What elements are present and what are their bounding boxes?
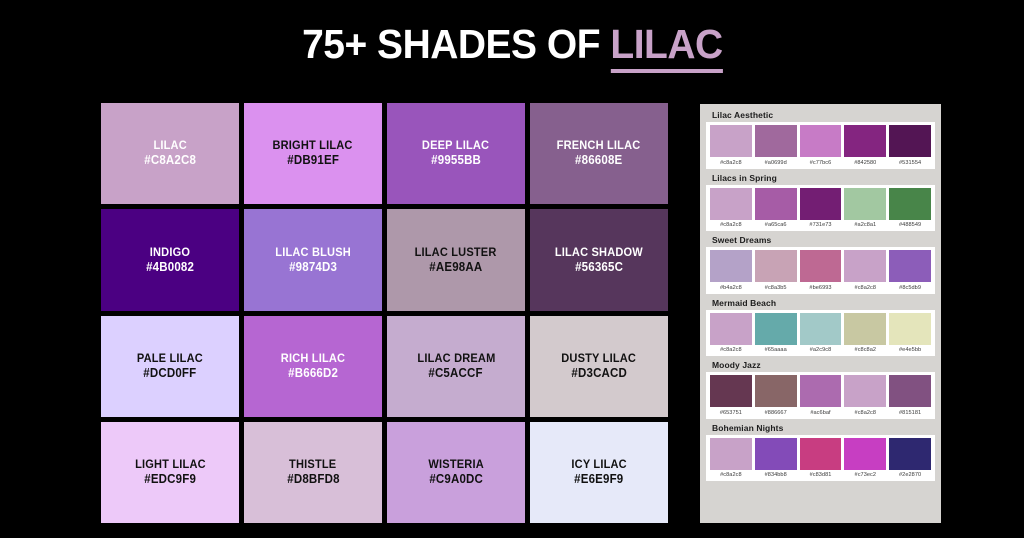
palette-color-chip[interactable] (889, 125, 931, 157)
palette-hex-code: #a0699d (765, 160, 787, 166)
palette-color-chip[interactable] (889, 313, 931, 345)
palette-swatch[interactable]: #be6993 (800, 250, 842, 292)
color-swatch-tile[interactable]: BRIGHT LILAC#DB91EF (244, 103, 382, 204)
swatch-hex-code: #DB91EF (287, 153, 339, 169)
palette-swatch[interactable]: #488549 (889, 188, 931, 230)
palette-color-chip[interactable] (844, 438, 886, 470)
palette-hex-code: #834bb8 (765, 472, 787, 478)
color-swatch-tile[interactable]: LILAC#C8A2C8 (101, 103, 239, 204)
palette-hex-code: #c8a2c8 (855, 410, 877, 416)
palette-card: #653751#886667#ac6baf#c8a2c8#815181 (706, 372, 935, 419)
palette-color-chip[interactable] (710, 250, 752, 282)
palette-hex-code: #65aaaa (765, 347, 787, 353)
palette-hex-code: #e4e5bb (899, 347, 921, 353)
palette-hex-code: #842580 (854, 160, 876, 166)
palette-swatch[interactable]: #815181 (889, 375, 931, 417)
palette-group-title: Lilac Aesthetic (706, 109, 935, 122)
palette-swatch[interactable]: #842580 (844, 125, 886, 167)
palette-swatch[interactable]: #a65ca6 (755, 188, 797, 230)
swatch-name: THISTLE (289, 457, 336, 472)
palette-hex-code: #815181 (899, 410, 921, 416)
swatch-hex-code: #56365C (575, 260, 623, 276)
swatch-hex-code: #9955BB (431, 153, 481, 169)
palette-hex-code: #a2c8a1 (854, 222, 876, 228)
palette-color-chip[interactable] (889, 250, 931, 282)
palette-color-chip[interactable] (710, 313, 752, 345)
palette-hex-code: #c77bc6 (810, 160, 832, 166)
palette-hex-code: #488549 (899, 222, 921, 228)
palette-swatch[interactable]: #c8a2c8 (710, 438, 752, 480)
palette-group: Lilacs in Spring#c8a2c8#a65ca6#731e73#a2… (706, 172, 935, 232)
palette-color-chip[interactable] (755, 438, 797, 470)
palette-swatch[interactable]: #8c5db9 (889, 250, 931, 292)
palette-color-chip[interactable] (710, 375, 752, 407)
swatch-hex-code: #C8A2C8 (144, 153, 196, 169)
palette-color-chip[interactable] (800, 313, 842, 345)
palette-hex-code: #8c5db9 (899, 285, 921, 291)
swatch-name: DUSTY LILAC (562, 351, 637, 366)
palette-swatch[interactable]: #c8a3b5 (755, 250, 797, 292)
color-swatch-tile[interactable]: DEEP LILAC#9955BB (387, 103, 525, 204)
color-swatch-tile[interactable]: LILAC LUSTER#AE98AA (387, 209, 525, 310)
palette-hex-code: #c83d81 (810, 472, 832, 478)
palette-hex-code: #c8a2c8 (855, 285, 877, 291)
palette-color-chip[interactable] (755, 188, 797, 220)
palette-hex-code: #ac6baf (810, 410, 830, 416)
color-swatch-tile[interactable]: LILAC DREAM#C5ACCF (387, 316, 525, 417)
palette-color-chip[interactable] (844, 188, 886, 220)
page-title-prefix: 75+ SHADES OF (302, 21, 610, 67)
palette-color-chip[interactable] (844, 250, 886, 282)
color-swatch-tile[interactable]: LILAC BLUSH#9874D3 (244, 209, 382, 310)
swatch-hex-code: #D8BFD8 (287, 472, 339, 488)
swatch-name: DEEP LILAC (422, 138, 489, 153)
palette-card: #c8a2c8#65aaaa#a2c9c8#c8c8a2#e4e5bb (706, 310, 935, 357)
palette-color-chip[interactable] (710, 438, 752, 470)
swatch-hex-code: #86608E (575, 153, 622, 169)
palette-hex-code: #a65ca6 (765, 222, 787, 228)
color-swatch-tile[interactable]: RICH LILAC#B666D2 (244, 316, 382, 417)
swatch-hex-code: #E6E9F9 (574, 472, 623, 488)
palette-color-chip[interactable] (844, 313, 886, 345)
palette-hex-code: #c8c8a2 (855, 347, 877, 353)
swatch-hex-code: #4B0082 (146, 260, 194, 276)
palette-color-chip[interactable] (889, 375, 931, 407)
color-swatch-tile[interactable]: FRENCH LILAC#86608E (530, 103, 668, 204)
color-swatch-tile[interactable]: THISTLE#D8BFD8 (244, 422, 382, 523)
swatch-name: LILAC DREAM (417, 351, 495, 366)
palette-swatch[interactable]: #531554 (889, 125, 931, 167)
palette-group: Moody Jazz#653751#886667#ac6baf#c8a2c8#8… (706, 359, 935, 419)
color-swatch-tile[interactable]: ICY LILAC#E6E9F9 (530, 422, 668, 523)
palette-color-chip[interactable] (889, 438, 931, 470)
palette-swatch[interactable]: #2e2870 (889, 438, 931, 480)
palette-group: Mermaid Beach#c8a2c8#65aaaa#a2c9c8#c8c8a… (706, 297, 935, 357)
swatch-name: ICY LILAC (571, 457, 626, 472)
palette-hex-code: #2e2870 (899, 472, 921, 478)
palette-group-title: Bohemian Nights (706, 422, 935, 435)
palette-color-chip[interactable] (710, 125, 752, 157)
palette-swatch[interactable]: #c8a2c8 (844, 375, 886, 417)
palette-swatch[interactable]: #886667 (755, 375, 797, 417)
main-swatch-grid: LILAC#C8A2C8BRIGHT LILAC#DB91EFDEEP LILA… (101, 103, 668, 523)
palette-color-chip[interactable] (755, 125, 797, 157)
palette-swatch[interactable]: #c8c8a2 (844, 313, 886, 355)
palette-color-chip[interactable] (800, 125, 842, 157)
palette-group: Bohemian Nights#c8a2c8#834bb8#c83d81#c73… (706, 422, 935, 482)
swatch-hex-code: #D3CACD (571, 366, 627, 382)
palette-group-title: Mermaid Beach (706, 297, 935, 310)
page-title: 75+ SHADES OF LILAC (302, 24, 723, 65)
palette-color-chip[interactable] (755, 375, 797, 407)
palette-hex-code: #c8a2c8 (720, 347, 742, 353)
swatch-name: LILAC BLUSH (275, 245, 351, 260)
color-swatch-tile[interactable]: PALE LILAC#DCD0FF (101, 316, 239, 417)
swatch-hex-code: #EDC9F9 (144, 472, 196, 488)
swatch-hex-code: #AE98AA (429, 260, 482, 276)
palette-color-chip[interactable] (844, 125, 886, 157)
palette-swatch[interactable]: #c8a2c8 (710, 125, 752, 167)
palette-swatch[interactable]: #a2c9c8 (800, 313, 842, 355)
palette-swatch[interactable]: #c73ec2 (844, 438, 886, 480)
page-title-accent: LILAC (610, 21, 722, 73)
palette-hex-code: #a2c9c8 (810, 347, 832, 353)
palette-color-chip[interactable] (710, 188, 752, 220)
palette-swatch[interactable]: #c8a2c8 (710, 188, 752, 230)
palette-swatch[interactable]: #ac6baf (800, 375, 842, 417)
palette-color-chip[interactable] (800, 438, 842, 470)
palette-hex-code: #c73ec2 (855, 472, 877, 478)
palette-color-chip[interactable] (755, 313, 797, 345)
palette-card: #c8a2c8#a65ca6#731e73#a2c8a1#488549 (706, 185, 935, 232)
palette-group: Sweet Dreams#b4a2c8#c8a3b5#be6993#c8a2c8… (706, 234, 935, 294)
palette-color-chip[interactable] (844, 375, 886, 407)
palette-color-chip[interactable] (800, 375, 842, 407)
palette-color-chip[interactable] (800, 188, 842, 220)
palette-group-title: Sweet Dreams (706, 234, 935, 247)
swatch-name: BRIGHT LILAC (273, 138, 353, 153)
swatch-name: RICH LILAC (281, 351, 345, 366)
palette-hex-code: #731e73 (809, 222, 831, 228)
swatch-hex-code: #B666D2 (288, 366, 338, 382)
palette-swatch[interactable]: #731e73 (800, 188, 842, 230)
palette-group-title: Moody Jazz (706, 359, 935, 372)
palette-hex-code: #653751 (720, 410, 742, 416)
color-swatch-tile[interactable]: LIGHT LILAC#EDC9F9 (101, 422, 239, 523)
color-swatch-tile[interactable]: DUSTY LILAC#D3CACD (530, 316, 668, 417)
swatch-name: PALE LILAC (137, 351, 203, 366)
palette-card: #b4a2c8#c8a3b5#be6993#c8a2c8#8c5db9 (706, 247, 935, 294)
palette-hex-code: #be6993 (809, 285, 831, 291)
swatch-name: LILAC SHADOW (555, 245, 643, 260)
palette-swatch[interactable]: #b4a2c8 (710, 250, 752, 292)
palette-swatch[interactable]: #c8a2c8 (710, 313, 752, 355)
swatch-name: LILAC LUSTER (415, 245, 497, 260)
swatch-hex-code: #9874D3 (289, 260, 337, 276)
palette-color-chip[interactable] (800, 250, 842, 282)
swatch-name: INDIGO (150, 245, 190, 260)
palette-swatch[interactable]: #834bb8 (755, 438, 797, 480)
palette-group-title: Lilacs in Spring (706, 172, 935, 185)
swatch-name: LILAC (153, 138, 186, 153)
palette-hex-code: #b4a2c8 (720, 285, 742, 291)
palette-swatch[interactable]: #c83d81 (800, 438, 842, 480)
palette-card: #c8a2c8#834bb8#c83d81#c73ec2#2e2870 (706, 435, 935, 482)
palette-hex-code: #c8a2c8 (720, 160, 742, 166)
swatch-name: FRENCH LILAC (557, 138, 641, 153)
palette-swatch[interactable]: #c77bc6 (800, 125, 842, 167)
swatch-name: LIGHT LILAC (135, 457, 206, 472)
color-swatch-tile[interactable]: WISTERIA#C9A0DC (387, 422, 525, 523)
palette-swatch[interactable]: #e4e5bb (889, 313, 931, 355)
swatch-hex-code: #C9A0DC (429, 472, 483, 488)
swatch-hex-code: #DCD0FF (143, 366, 196, 382)
palette-hex-code: #c8a2c8 (720, 472, 742, 478)
palette-color-chip[interactable] (755, 250, 797, 282)
palette-swatch[interactable]: #c8a2c8 (844, 250, 886, 292)
palette-card: #c8a2c8#a0699d#c77bc6#842580#531554 (706, 122, 935, 169)
palette-group: Lilac Aesthetic#c8a2c8#a0699d#c77bc6#842… (706, 109, 935, 169)
palette-color-chip[interactable] (889, 188, 931, 220)
color-swatch-tile[interactable]: LILAC SHADOW#56365C (530, 209, 668, 310)
swatch-hex-code: #C5ACCF (429, 366, 483, 382)
palette-hex-code: #531554 (899, 160, 921, 166)
palette-hex-code: #c8a3b5 (765, 285, 787, 291)
palette-swatch[interactable]: #65aaaa (755, 313, 797, 355)
palette-swatch[interactable]: #a2c8a1 (844, 188, 886, 230)
swatch-name: WISTERIA (428, 457, 483, 472)
color-swatch-tile[interactable]: INDIGO#4B0082 (101, 209, 239, 310)
palette-swatch[interactable]: #a0699d (755, 125, 797, 167)
palette-swatch[interactable]: #653751 (710, 375, 752, 417)
palette-hex-code: #c8a2c8 (720, 222, 742, 228)
title-bar: 75+ SHADES OF LILAC (0, 24, 1024, 65)
palette-panel: Lilac Aesthetic#c8a2c8#a0699d#c77bc6#842… (700, 104, 941, 523)
palette-hex-code: #886667 (765, 410, 787, 416)
